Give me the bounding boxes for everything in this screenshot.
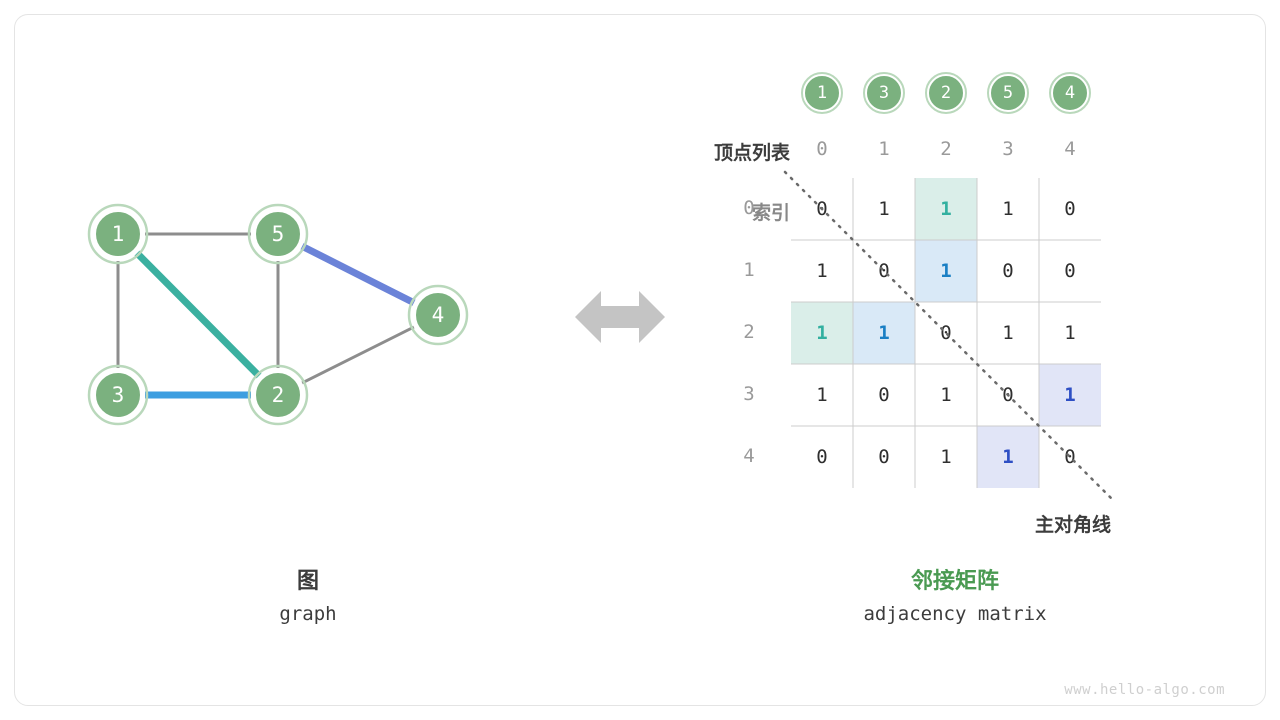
graph-edge (137, 253, 259, 376)
graph-caption-cn: 图 (168, 565, 448, 598)
graph-node-3 (95, 372, 142, 419)
matrix-cell-1-1: 0 (853, 240, 915, 302)
row-index-4: 4 (730, 445, 768, 467)
graph-node-2 (255, 372, 302, 419)
matrix-cell-3-0: 1 (791, 364, 853, 426)
row-index-3: 3 (730, 383, 768, 405)
matrix-cell-2-3: 1 (977, 302, 1039, 364)
matrix-cell-1-2: 1 (915, 240, 977, 302)
vertex-chip-4: 4 (1051, 74, 1089, 112)
matrix-cell-2-4: 1 (1039, 302, 1101, 364)
main-diagonal-label: 主对角线 (1035, 510, 1111, 537)
matrix-caption: 邻接矩阵 adjacency matrix (800, 565, 1110, 630)
matrix-cell-0-0: 0 (791, 178, 853, 240)
matrix-cell-4-4: 0 (1039, 426, 1101, 488)
matrix-caption-en: adjacency matrix (800, 598, 1110, 630)
graph-caption: 图 graph (168, 565, 448, 630)
graph-illustration: 15432 (60, 160, 560, 470)
matrix-cell-0-3: 1 (977, 178, 1039, 240)
watermark: www.hello-algo.com (1064, 682, 1225, 698)
matrix-cell-4-3: 1 (977, 426, 1039, 488)
matrix-cell-2-2: 0 (915, 302, 977, 364)
graph-svg (60, 160, 560, 470)
column-index-3: 3 (989, 138, 1027, 160)
vertex-chip-1: 1 (803, 74, 841, 112)
column-index-2: 2 (927, 138, 965, 160)
matrix-cell-3-3: 0 (977, 364, 1039, 426)
matrix-cell-1-3: 0 (977, 240, 1039, 302)
graph-caption-en: graph (168, 598, 448, 630)
column-index-4: 4 (1051, 138, 1089, 160)
matrix-cell-2-0: 1 (791, 302, 853, 364)
matrix-cell-0-2: 1 (915, 178, 977, 240)
matrix-cell-1-4: 0 (1039, 240, 1101, 302)
column-index-1: 1 (865, 138, 903, 160)
row-index-2: 2 (730, 321, 768, 343)
bidirectional-arrow-icon (575, 288, 665, 346)
graph-edge (302, 246, 414, 303)
matrix-cell-4-0: 0 (791, 426, 853, 488)
diagram-canvas: 15432 顶点列表 索引 13254 01234 01234 01110101… (0, 0, 1280, 720)
graph-node-4 (415, 292, 462, 339)
matrix-cell-4-1: 0 (853, 426, 915, 488)
graph-edge (302, 327, 414, 383)
column-index-0: 0 (803, 138, 841, 160)
matrix-cell-1-0: 1 (791, 240, 853, 302)
row-index-0: 0 (730, 197, 768, 219)
matrix-cell-2-1: 1 (853, 302, 915, 364)
vertex-list-label: 顶点列表 (670, 138, 790, 165)
matrix-caption-cn: 邻接矩阵 (800, 565, 1110, 598)
matrix-cell-0-1: 1 (853, 178, 915, 240)
vertex-chip-3: 3 (865, 74, 903, 112)
vertex-chip-5: 5 (989, 74, 1027, 112)
adjacency-matrix: 顶点列表 索引 13254 01234 01234 01110101001101… (660, 60, 1130, 530)
matrix-cell-0-4: 0 (1039, 178, 1101, 240)
matrix-cell-3-4: 1 (1039, 364, 1101, 426)
row-index-1: 1 (730, 259, 768, 281)
graph-edges (118, 234, 414, 395)
matrix-cell-4-2: 1 (915, 426, 977, 488)
matrix-cell-3-1: 0 (853, 364, 915, 426)
vertex-chip-2: 2 (927, 74, 965, 112)
matrix-cell-3-2: 1 (915, 364, 977, 426)
graph-node-1 (95, 211, 142, 258)
graph-node-5 (255, 211, 302, 258)
